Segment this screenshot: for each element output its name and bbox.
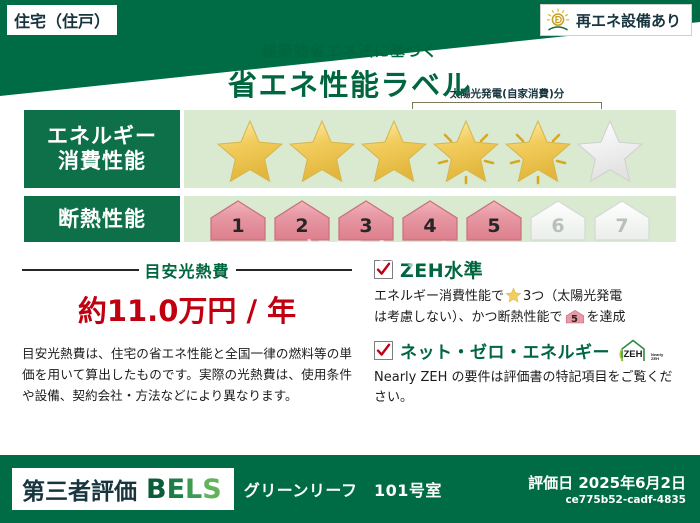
evaluation-date-label: 評価日 bbox=[528, 474, 573, 492]
inline-house-number: 5 bbox=[565, 312, 585, 328]
evaluation-date-value: 2025年6月2日 bbox=[578, 474, 686, 492]
star-1-filled bbox=[215, 117, 285, 185]
net-zero-energy-title: ネット・ゼロ・エネルギー bbox=[400, 338, 610, 363]
energy-performance-label: エネルギー 消費性能 bbox=[22, 108, 182, 190]
heading-rule-right bbox=[236, 269, 353, 271]
label-title-block: 建築物省エネ法に基づく 省エネ性能ラベル bbox=[0, 40, 700, 104]
heading-rule-left bbox=[22, 269, 139, 271]
energy-cost-note: 目安光熱費は、住宅の省エネ性能と全国一律の燃料等の単価を用いて算出したものです。… bbox=[22, 344, 352, 406]
solar-spark-marks-4 bbox=[431, 117, 501, 185]
insulation-level-7: 7 bbox=[591, 198, 653, 242]
net-zero-energy-checkbox[interactable] bbox=[374, 341, 393, 360]
insulation-level-6: 6 bbox=[527, 198, 589, 242]
title-main: 省エネ性能ラベル bbox=[0, 62, 700, 104]
inline-star-icon bbox=[505, 287, 522, 303]
star-3-filled bbox=[359, 117, 429, 185]
star-2-filled bbox=[287, 117, 357, 185]
housing-type-badge: 住宅（住戸） bbox=[6, 4, 118, 36]
star-5-filled-solar bbox=[503, 117, 573, 185]
solar-spark-marks-5 bbox=[503, 117, 573, 185]
insulation-level-4: 4 bbox=[399, 198, 461, 242]
insulation-level-1: 1 bbox=[207, 198, 269, 242]
evaluation-date: 評価日 2025年6月2日 bbox=[528, 472, 686, 493]
svg-text:ZEH: ZEH bbox=[651, 356, 659, 361]
inline-house-icon: 5 bbox=[565, 308, 585, 325]
evaluation-info: 評価日 2025年6月2日 ce775b52-cadf-4835 bbox=[528, 472, 686, 506]
svg-text:ZEH: ZEH bbox=[624, 349, 643, 360]
insulation-level-2: 2 bbox=[271, 198, 333, 242]
bels-logo: 第三者評価 BELS bbox=[12, 468, 234, 510]
energy-cost-column: 目安光熱費 約11.0万円 / 年 目安光熱費は、住宅の省エネ性能と全国一律の燃… bbox=[22, 256, 362, 418]
insulation-level-3: 3 bbox=[335, 198, 397, 242]
star-6-empty bbox=[575, 117, 645, 185]
building-name: グリーンリーフ 101号室 bbox=[244, 477, 442, 501]
energy-label-line1: エネルギー bbox=[47, 124, 157, 149]
energy-cost-heading-text: 目安光熱費 bbox=[145, 258, 230, 282]
zeh-standard-description: エネルギー消費性能で3つ（太陽光発電 は考慮しない）、かつ断熱性能で5を達成 bbox=[374, 287, 678, 329]
energy-label-line2: 消費性能 bbox=[58, 149, 146, 174]
insulation-level-3-number: 3 bbox=[335, 215, 397, 237]
insulation-level-6-number: 6 bbox=[527, 215, 589, 237]
insulation-level-5-number: 5 bbox=[463, 215, 525, 237]
bels-jp-label: 第三者評価 bbox=[22, 472, 137, 506]
net-zero-energy-header: ネット・ゼロ・エネルギー ZEH Nearly ZEH bbox=[374, 338, 678, 364]
zeh-standard-title: ZEH水準 bbox=[400, 256, 483, 283]
zeh-desc-star-text: 3つ（太陽光発電 bbox=[523, 289, 622, 304]
evaluation-id: ce775b52-cadf-4835 bbox=[528, 494, 686, 506]
label-content: エネルギー 消費性能 太陽光発電(自家消費)分 bbox=[22, 108, 678, 448]
renewable-energy-badge: 再エネ設備あり bbox=[540, 4, 692, 36]
net-zero-energy-description: Nearly ZEH の要件は評価書の特記項目をご覧ください。 bbox=[374, 368, 678, 410]
housing-type-label: 住宅（住戸） bbox=[14, 8, 110, 32]
insulation-label-text: 断熱性能 bbox=[58, 207, 146, 232]
energy-star-panel: 太陽光発電(自家消費)分 bbox=[182, 108, 678, 190]
net-zero-energy-item: ネット・ゼロ・エネルギー ZEH Nearly ZEH Nearly ZEH の… bbox=[374, 338, 678, 410]
sun-icon bbox=[545, 8, 571, 32]
insulation-level-7-number: 7 bbox=[591, 215, 653, 237]
insulation-level-5: 5 bbox=[463, 198, 525, 242]
zeh-standard-checkbox[interactable] bbox=[374, 260, 393, 279]
energy-performance-row: エネルギー 消費性能 太陽光発電(自家消費)分 bbox=[22, 108, 678, 190]
energy-cost-value: 約11.0万円 / 年 bbox=[22, 288, 352, 330]
lower-section: 目安光熱費 約11.0万円 / 年 目安光熱費は、住宅の省エネ性能と全国一律の燃… bbox=[22, 256, 678, 418]
star-4-filled-solar bbox=[431, 117, 501, 185]
insulation-level-2-number: 2 bbox=[271, 215, 333, 237]
zeh-column: ZEH水準 エネルギー消費性能で3つ（太陽光発電 は考慮しない）、かつ断熱性能で… bbox=[362, 256, 678, 418]
star-rating bbox=[184, 110, 676, 188]
zeh-desc-part3: を達成 bbox=[587, 310, 626, 325]
zeh-standard-item: ZEH水準 エネルギー消費性能で3つ（太陽光発電 は考慮しない）、かつ断熱性能で… bbox=[374, 256, 678, 329]
zeh-desc-part1: エネルギー消費性能で bbox=[374, 289, 504, 304]
title-subtitle: 建築物省エネ法に基づく bbox=[0, 40, 700, 61]
insulation-level-1-number: 1 bbox=[207, 215, 269, 237]
bels-en-label: BELS bbox=[146, 474, 222, 505]
insulation-level-scale: 1 2 3 4 5 bbox=[184, 196, 676, 242]
label-footer: 第三者評価 BELS グリーンリーフ 101号室 評価日 2025年6月2日 c… bbox=[0, 455, 700, 523]
renewable-energy-label: 再エネ設備あり bbox=[576, 10, 681, 31]
zeh-desc-part2: は考慮しない）、かつ断熱性能で bbox=[374, 310, 563, 325]
insulation-performance-row: 断熱性能 1 2 3 bbox=[22, 194, 678, 244]
zeh-logo-icon: ZEH Nearly ZEH bbox=[619, 338, 665, 364]
insulation-level-panel: 1 2 3 4 5 bbox=[182, 194, 678, 244]
bels-energy-label: 住宅（住戸） 再エネ設備あり 建築物省エネ法に基づく bbox=[0, 0, 700, 523]
insulation-performance-label: 断熱性能 bbox=[22, 194, 182, 244]
energy-cost-heading: 目安光熱費 bbox=[22, 258, 352, 282]
insulation-level-4-number: 4 bbox=[399, 215, 461, 237]
zeh-standard-header: ZEH水準 bbox=[374, 256, 678, 283]
